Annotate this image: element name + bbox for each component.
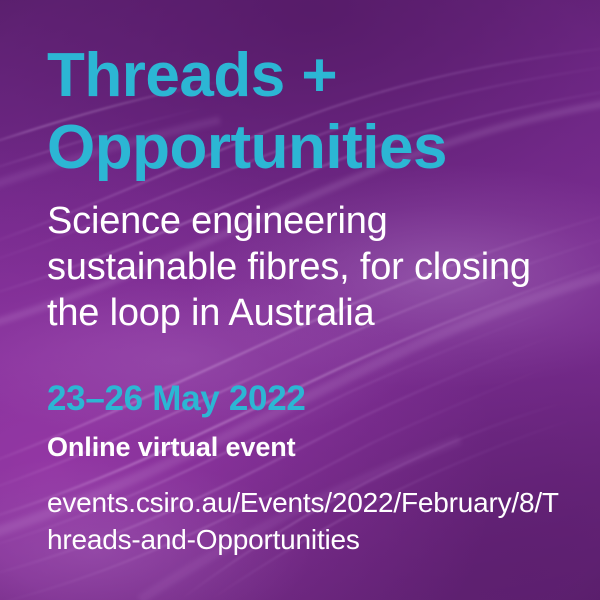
event-mode-label: Online virtual event xyxy=(47,430,296,464)
event-url: events.csiro.au/Events/2022/February/8/T… xyxy=(47,484,567,558)
event-promo-poster: Threads + Opportunities Science engineer… xyxy=(0,0,600,600)
poster-content: Threads + Opportunities Science engineer… xyxy=(47,0,567,600)
event-date: 23–26 May 2022 xyxy=(47,379,306,419)
poster-subtitle: Science engineering sustainable fibres, … xyxy=(47,198,557,336)
page-title: Threads + Opportunities xyxy=(47,40,447,184)
